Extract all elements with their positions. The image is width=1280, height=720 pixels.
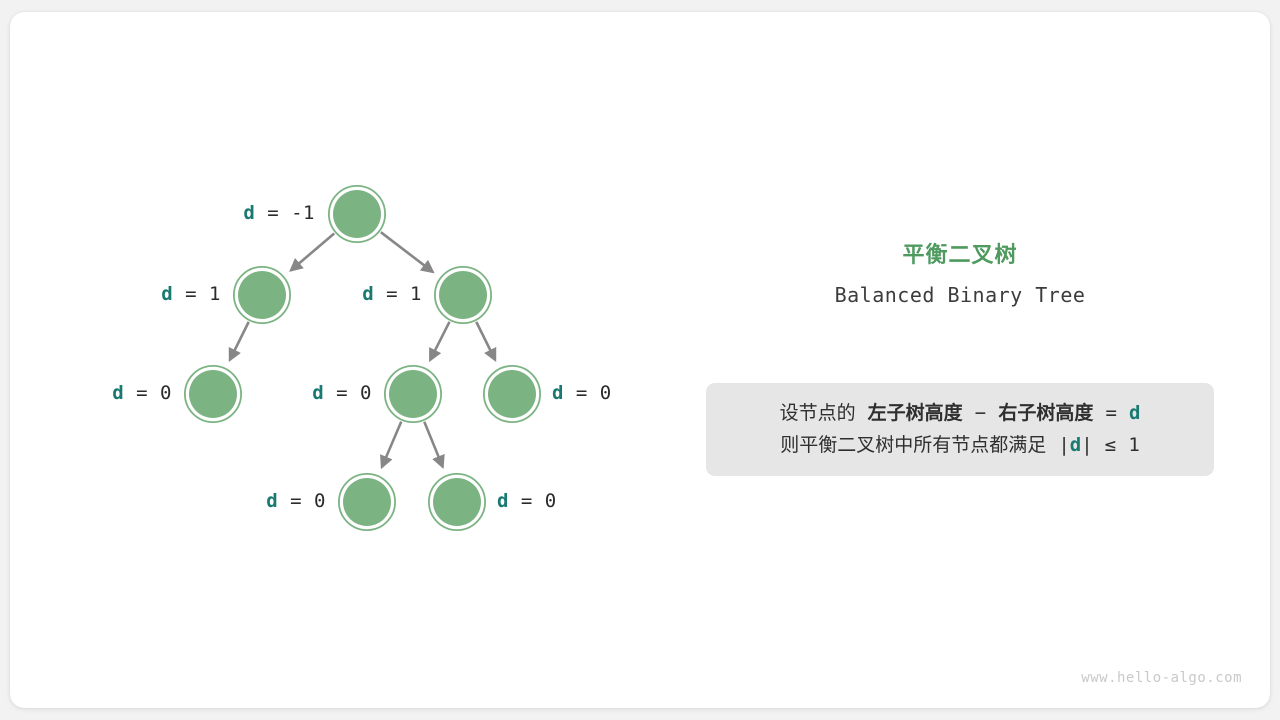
diagram-card: d = -1d = 1d = 1d = 0d = 0d = 0d = 0d = … (10, 12, 1270, 708)
tree-nodes (185, 186, 540, 530)
tree-node-label: d = 0 (10, 490, 326, 512)
tree-node[interactable] (435, 267, 491, 323)
tree-node-fill (488, 370, 536, 418)
tree-node-label: d = 0 (552, 382, 612, 404)
definition-line-2: 则平衡二叉树中所有节点都满足 |d| ≤ 1 (706, 429, 1214, 461)
tree-node-label: d = -1 (10, 202, 315, 224)
condition-value: 1 (1128, 434, 1139, 456)
tree-edge (424, 422, 442, 467)
definition-variable-d: d (1129, 402, 1140, 424)
tree-edge (230, 322, 249, 360)
tree-edge (381, 232, 433, 272)
definition-equals-sign: = (1105, 402, 1116, 424)
tree-node[interactable] (484, 366, 540, 422)
watermark: www.hello-algo.com (1081, 670, 1242, 686)
page-title: 平衡二叉树 (706, 237, 1214, 269)
tree-edge (382, 422, 401, 467)
tree-edge (291, 233, 334, 270)
condition-prefix: 则平衡二叉树中所有节点都满足 (780, 434, 1046, 456)
condition-relation: ≤ (1105, 434, 1116, 456)
binary-tree-graphic (10, 12, 1270, 708)
tree-node[interactable] (339, 474, 395, 530)
abs-close-bar: | (1081, 434, 1092, 456)
tree-node-fill (333, 190, 381, 238)
tree-node-fill (433, 478, 481, 526)
abs-open-bar: | (1058, 434, 1069, 456)
tree-node-label: d = 0 (497, 490, 557, 512)
definition-minus-sign: − (975, 402, 986, 424)
condition-variable-d: d (1070, 434, 1081, 456)
definition-term-right: 右子树高度 (998, 402, 1093, 424)
right-panel: 平衡二叉树 Balanced Binary Tree (706, 237, 1214, 307)
tree-node-label: d = 0 (10, 382, 372, 404)
page-subtitle: Balanced Binary Tree (706, 283, 1214, 307)
tree-node-fill (389, 370, 437, 418)
definition-prefix: 设节点的 (780, 402, 856, 424)
tree-node-fill (343, 478, 391, 526)
definition-term-left: 左子树高度 (868, 402, 963, 424)
tree-node[interactable] (429, 474, 485, 530)
tree-node-fill (439, 271, 487, 319)
tree-node-label: d = 1 (10, 283, 422, 305)
tree-node[interactable] (329, 186, 385, 242)
tree-edge (430, 322, 449, 360)
definition-line-1: 设节点的 左子树高度 − 右子树高度 = d (706, 397, 1214, 429)
tree-node[interactable] (385, 366, 441, 422)
tree-edge (476, 322, 495, 360)
definition-info-box: 设节点的 左子树高度 − 右子树高度 = d 则平衡二叉树中所有节点都满足 |d… (706, 383, 1214, 476)
